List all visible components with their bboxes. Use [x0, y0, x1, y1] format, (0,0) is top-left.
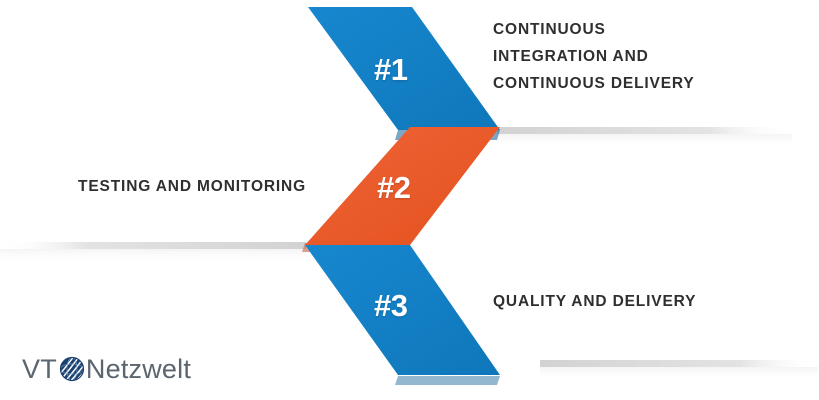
step-3-number: #3	[374, 288, 407, 324]
shadow-band-row3	[540, 360, 818, 381]
step-2-number: #2	[377, 170, 410, 206]
company-logo: VT	[22, 352, 191, 386]
shadow-band-row2	[0, 242, 306, 263]
step-1-number: #1	[374, 52, 407, 88]
striped-globe-icon	[57, 354, 87, 384]
logo-text-netzwelt: Netzwelt	[86, 356, 191, 383]
infographic-canvas: #1 #2 #3 CONTINUOUS INTEGRATION AND CONT…	[0, 0, 819, 400]
chevron-3-edge	[395, 376, 500, 385]
logo-text-vt: VT	[22, 356, 57, 383]
step-1-label: CONTINUOUS INTEGRATION AND CONTINUOUS DE…	[493, 16, 695, 97]
step-2-label: TESTING AND MONITORING	[0, 173, 306, 200]
step-3-label: QUALITY AND DELIVERY	[493, 288, 696, 315]
shadow-band-row1	[497, 127, 792, 148]
